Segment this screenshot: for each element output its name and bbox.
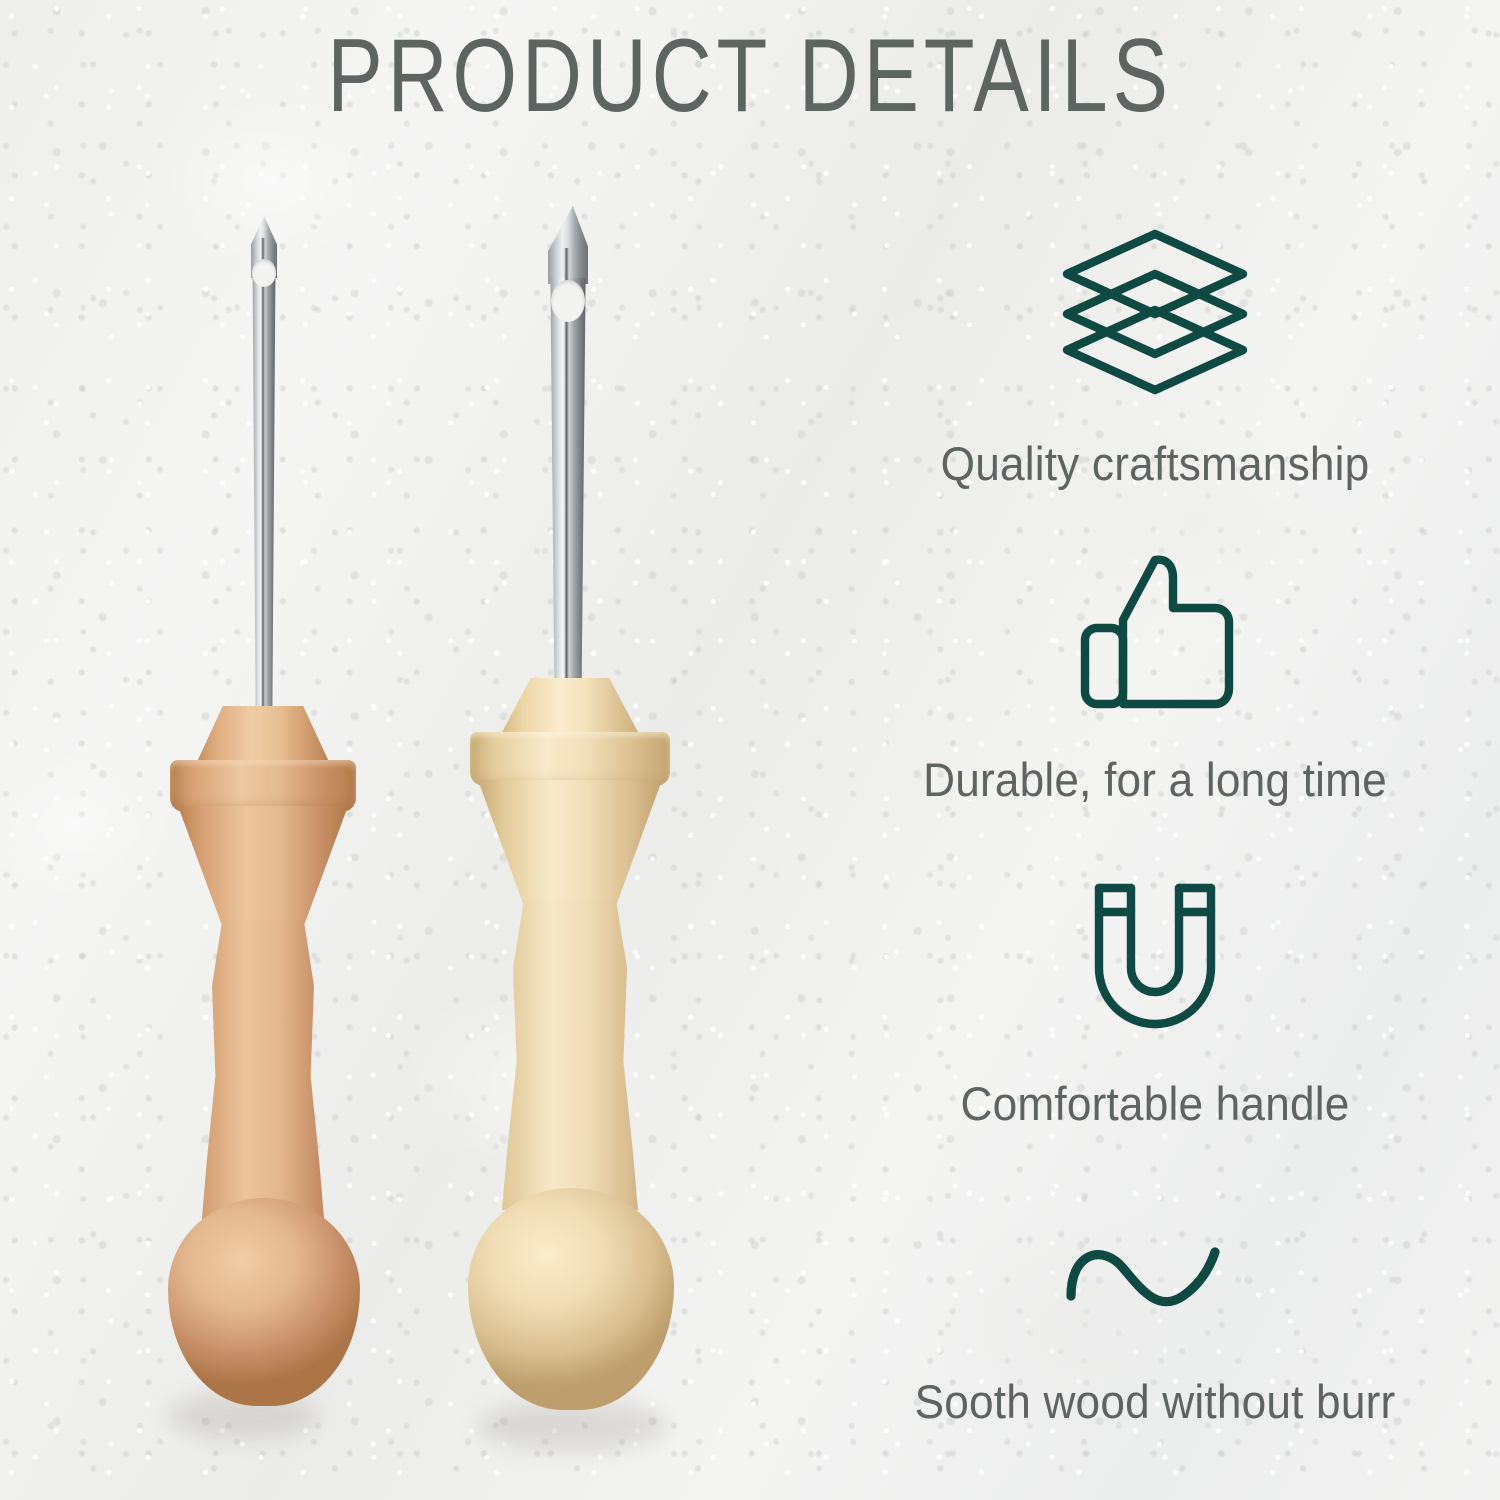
feature-label-durable: Durable, for a long time (831, 752, 1480, 807)
thumbs-up-icon (1067, 548, 1243, 716)
product-details-page: PRODUCT DETAILS (0, 0, 1500, 1500)
awl-small-handle-flange (170, 760, 356, 812)
feature-item-quality-craftsmanship: Quality craftsmanship (810, 222, 1500, 491)
awl-small-eye-hole (252, 259, 276, 287)
awl-small-handle-neck (178, 806, 348, 926)
magnet-icon (1071, 872, 1239, 1040)
feature-item-comfortable-handle: Comfortable handle (810, 872, 1500, 1131)
awl-small-handle-cone (196, 706, 330, 764)
wave-icon (1055, 1228, 1255, 1324)
feature-label-quality-craftsmanship: Quality craftsmanship (831, 436, 1480, 491)
feature-item-sooth-wood: Sooth wood without burr (810, 1228, 1500, 1429)
feature-item-durable: Durable, for a long time (810, 548, 1500, 807)
feature-label-sooth-wood: Sooth wood without burr (831, 1374, 1480, 1429)
awl-small-handle-grip (178, 920, 348, 1220)
feature-list: Quality craftsmanship Durable, for a lon… (810, 0, 1500, 1500)
layers-icon (1055, 222, 1255, 398)
awl-large-handle-grip (478, 900, 662, 1210)
awl-small-handle-bulb (168, 1198, 360, 1406)
awl-large-eye-hole (551, 280, 585, 322)
awl-large-handle-flange (470, 732, 670, 786)
awl-small-shaft-groove (261, 238, 265, 712)
awl-large-handle-bulb (468, 1188, 674, 1410)
product-image-area (0, 0, 800, 1500)
awl-large-handle-cone (500, 678, 640, 736)
feature-label-comfortable-handle: Comfortable handle (831, 1076, 1480, 1131)
awl-large-handle-neck (478, 780, 662, 906)
